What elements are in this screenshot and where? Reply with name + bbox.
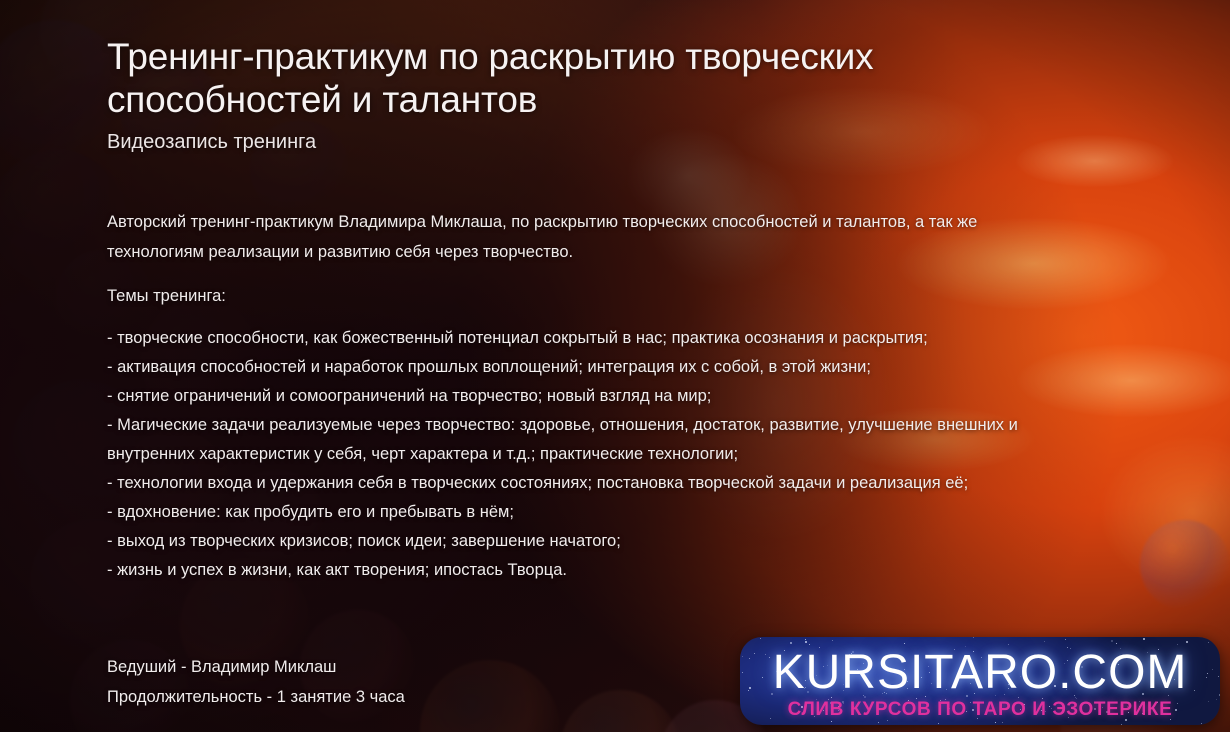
star-dot <box>805 641 807 643</box>
star-dot <box>1121 724 1122 725</box>
topics-label: Темы тренинга: <box>107 281 226 311</box>
star-dot <box>805 639 806 640</box>
topic-item: - технологии входа и удержания себя в тв… <box>107 469 1092 498</box>
star-dot <box>832 640 833 641</box>
content-column: Тренинг-практикум по раскрытию творчески… <box>107 0 1107 732</box>
topic-item: - выход из творческих кризисов; поиск ид… <box>107 527 1092 556</box>
star-dot <box>1111 640 1113 642</box>
star-dot <box>1143 638 1145 640</box>
page-title: Тренинг-практикум по раскрытию творчески… <box>107 36 1042 121</box>
star-dot <box>938 723 939 724</box>
page-subtitle: Видеозапись тренинга <box>107 131 316 154</box>
footer-host: Ведуший - Владимир Миклаш <box>107 652 405 682</box>
star-dot <box>831 721 832 722</box>
topic-item: - активация способностей и наработок про… <box>107 353 1092 382</box>
star-dot <box>747 722 748 723</box>
star-dot <box>760 638 761 639</box>
star-dot <box>995 722 996 723</box>
star-dot <box>1002 722 1003 723</box>
slide-root: Тренинг-практикум по раскрытию творчески… <box>0 0 1230 732</box>
watermark-badge: KURSITARO.COM СЛИВ КУРСОВ ПО ТАРО И ЭЗОТ… <box>740 637 1220 725</box>
star-dot <box>1044 641 1045 642</box>
watermark-subtitle: СЛИВ КУРСОВ ПО ТАРО И ЭЗОТЕРИКЕ <box>740 699 1220 721</box>
topic-item: - снятие ограничений и сомоограничений н… <box>107 382 1092 411</box>
topic-item: - вдохновение: как пробудить его и пребы… <box>107 498 1092 527</box>
star-dot <box>1208 642 1209 643</box>
watermark-title: KURSITARO.COM <box>740 645 1220 700</box>
topics-list: - творческие способности, как божественн… <box>107 324 1092 585</box>
star-dot <box>1201 723 1202 724</box>
intro-paragraph: Авторский тренинг-практикум Владимира Ми… <box>107 207 1062 267</box>
topic-item: - творческие способности, как божественн… <box>107 324 1092 353</box>
star-dot <box>973 637 974 638</box>
star-dot <box>1116 643 1117 644</box>
topic-item: - Магические задачи реализуемые через тв… <box>107 411 1092 469</box>
footer-duration: Продолжительность - 1 занятие 3 часа <box>107 682 405 712</box>
star-dot <box>1186 641 1188 643</box>
star-dot <box>878 722 879 723</box>
star-dot <box>790 642 792 644</box>
footer-info: Ведуший - Владимир Миклаш Продолжительно… <box>107 652 405 712</box>
star-dot <box>1065 639 1066 640</box>
topic-item: - жизнь и успех в жизни, как акт творени… <box>107 556 1092 585</box>
